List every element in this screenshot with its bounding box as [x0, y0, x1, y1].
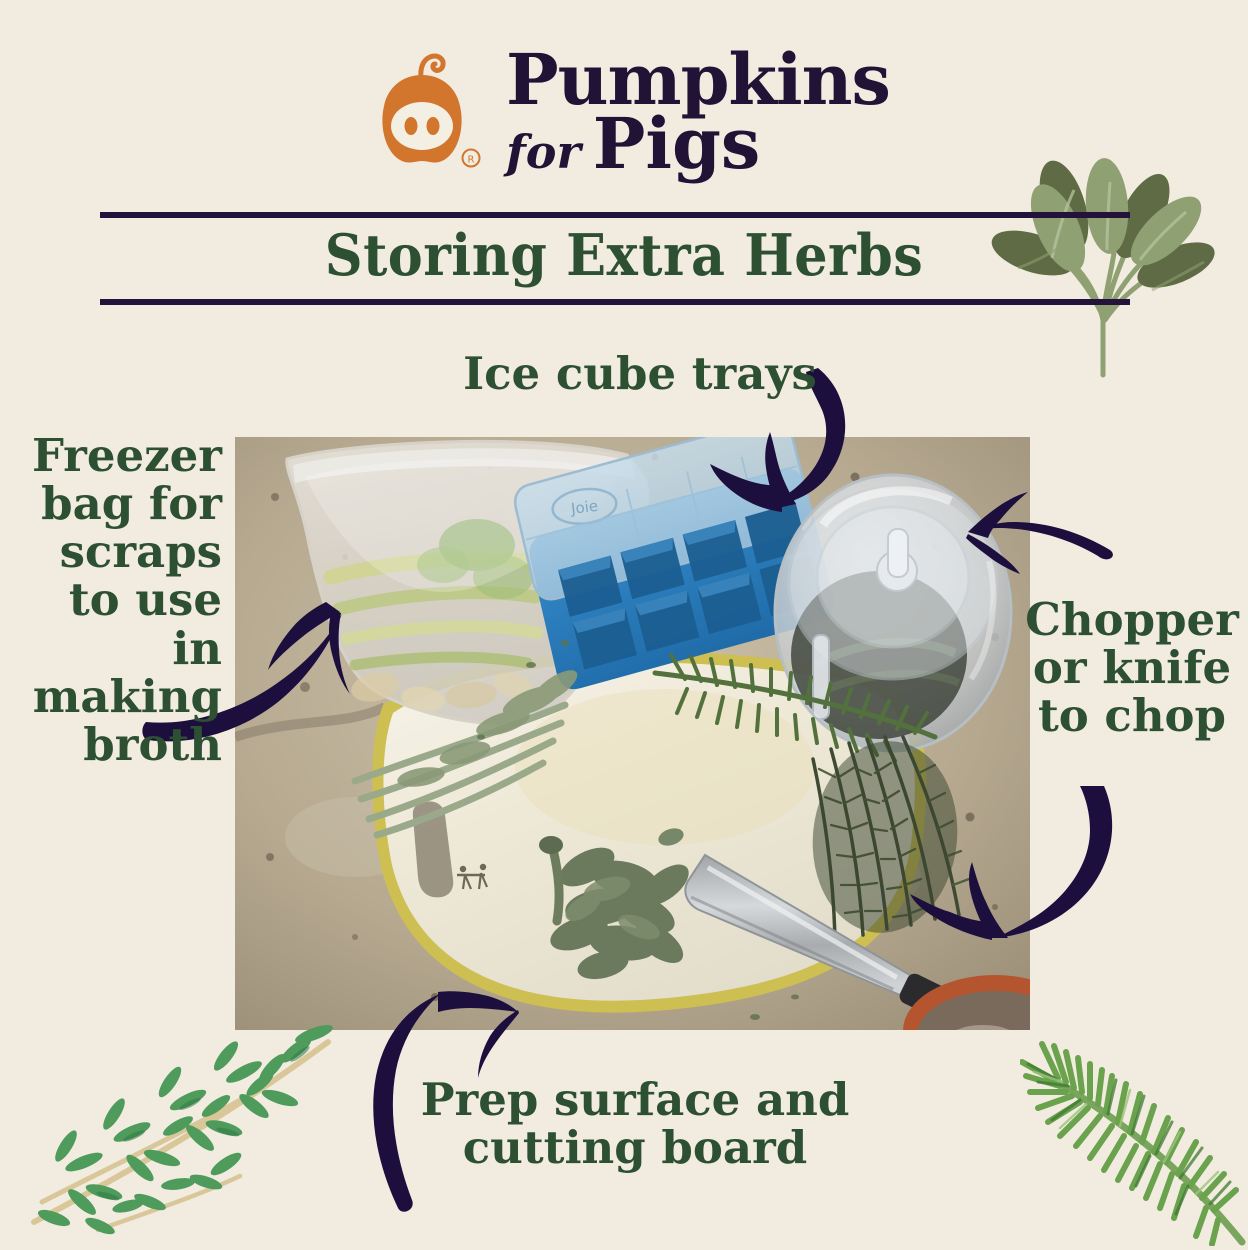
herb-storage-photo: Joie — [235, 437, 1030, 1030]
annotation-label-freezer-bag: Freezer bag for scraps to use in making … — [8, 432, 222, 769]
brand-name-line2: Pigs — [593, 112, 761, 176]
infographic-canvas: R Pumpkins for Pigs — [0, 0, 1248, 1246]
page-title: Storing Extra Herbs — [50, 222, 1198, 289]
rosemary-sprig-decoration — [1020, 996, 1248, 1246]
thyme-sprig-decoration — [28, 1006, 358, 1246]
annotation-label-prep-surface: Prep surface and cutting board — [400, 1076, 870, 1172]
annotation-label-ice-cube-trays: Ice cube trays — [430, 350, 850, 398]
annotation-label-chopper-knife: Chopper or knife to chop — [1016, 596, 1248, 740]
svg-text:R: R — [468, 155, 475, 166]
brand-name-connector: for — [506, 131, 581, 173]
title-rule-top — [100, 212, 1130, 218]
brand-wordmark: Pumpkins for Pigs — [506, 48, 890, 177]
title-rule-bottom — [100, 299, 1130, 305]
pumpkin-pig-logo-icon: R — [358, 48, 486, 176]
svg-text:Joie: Joie — [569, 497, 599, 518]
